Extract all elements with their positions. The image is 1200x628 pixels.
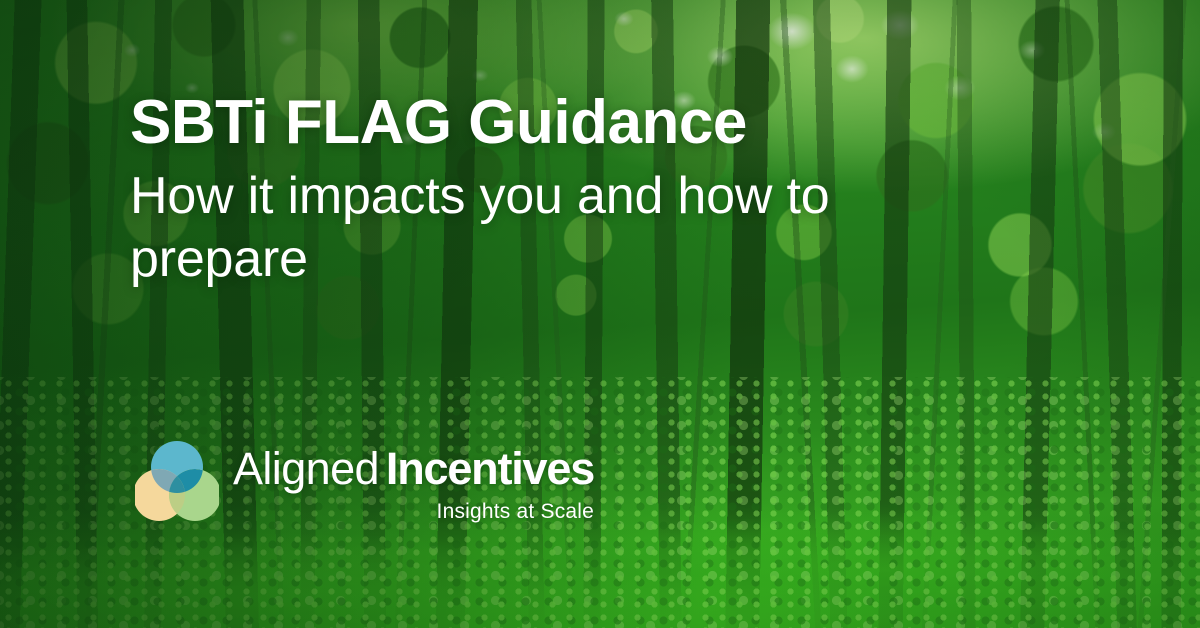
brand-tagline: Insights at Scale	[233, 500, 594, 524]
brand-wordmark: AlignedIncentives	[233, 446, 594, 491]
headline-block: SBTi FLAG Guidance How it impacts you an…	[130, 90, 960, 292]
logo-text-block: AlignedIncentives Insights at Scale	[233, 438, 594, 524]
banner-title: SBTi FLAG Guidance	[130, 90, 960, 157]
brand-logo-lockup[interactable]: AlignedIncentives Insights at Scale	[135, 438, 594, 524]
wordmark-aligned: Aligned	[233, 443, 379, 494]
social-share-banner: SBTi FLAG Guidance How it impacts you an…	[0, 0, 1200, 628]
banner-content: SBTi FLAG Guidance How it impacts you an…	[0, 0, 1200, 628]
wordmark-incentives: Incentives	[386, 443, 594, 494]
banner-subtitle: How it impacts you and how to prepare	[130, 165, 960, 292]
three-overlapping-circles-venn-icon	[135, 440, 219, 524]
